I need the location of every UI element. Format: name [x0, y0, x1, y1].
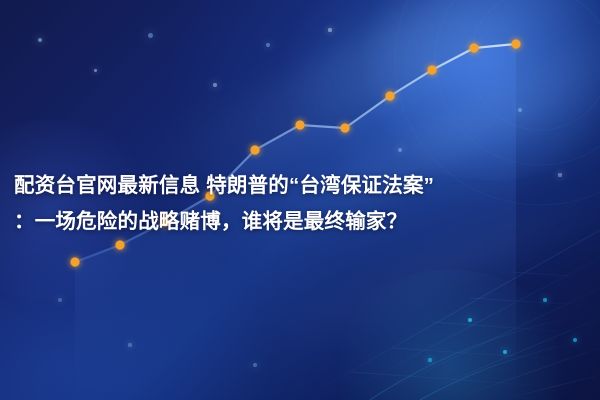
particle-dot	[328, 28, 331, 31]
particle-dot	[266, 43, 270, 47]
particle-dot	[503, 350, 507, 354]
particle-dot	[38, 38, 42, 42]
particle-dot	[573, 338, 577, 342]
particle-dot	[94, 69, 97, 72]
particle-dot	[148, 33, 153, 38]
particle-dot	[58, 298, 62, 302]
glow-bottom-right	[320, 270, 580, 400]
particle-dot	[468, 318, 473, 323]
particle-dot	[213, 83, 217, 87]
headline-line-1: 配资台官网最新信息 特朗普的“台湾保证法案”	[14, 168, 586, 204]
banner-image: 配资台官网最新信息 特朗普的“台湾保证法案” ：一场危险的战略赌博，谁将是最终输…	[0, 0, 600, 400]
particle-dot	[253, 363, 257, 367]
particle-dot	[428, 358, 431, 361]
particle-dot	[518, 108, 522, 112]
particle-dot	[543, 298, 547, 302]
page-title: 配资台官网最新信息 特朗普的“台湾保证法案” ：一场危险的战略赌博，谁将是最终输…	[14, 168, 586, 240]
particle-dot	[128, 343, 131, 346]
particle-dot	[398, 148, 402, 152]
headline-line-2: ：一场危险的战略赌博，谁将是最终输家？	[14, 204, 586, 240]
glow-top-right	[340, 0, 600, 180]
